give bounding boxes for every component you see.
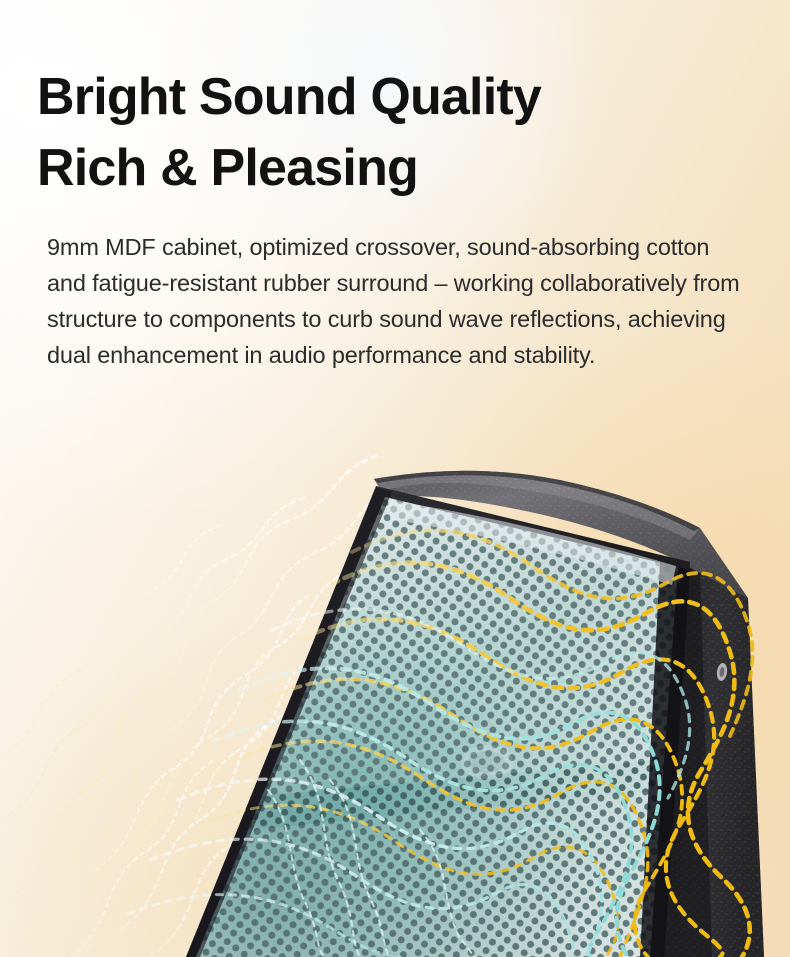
copy-block: Bright Sound Quality Rich & Pleasing 9mm… <box>37 62 757 373</box>
grille-emboss-mark <box>461 745 513 779</box>
feature-description: 9mm MDF cabinet, optimized crossover, so… <box>47 230 747 373</box>
product-feature-card: Bright Sound Quality Rich & Pleasing 9mm… <box>0 0 790 957</box>
page-title: Bright Sound Quality Rich & Pleasing <box>37 62 757 204</box>
